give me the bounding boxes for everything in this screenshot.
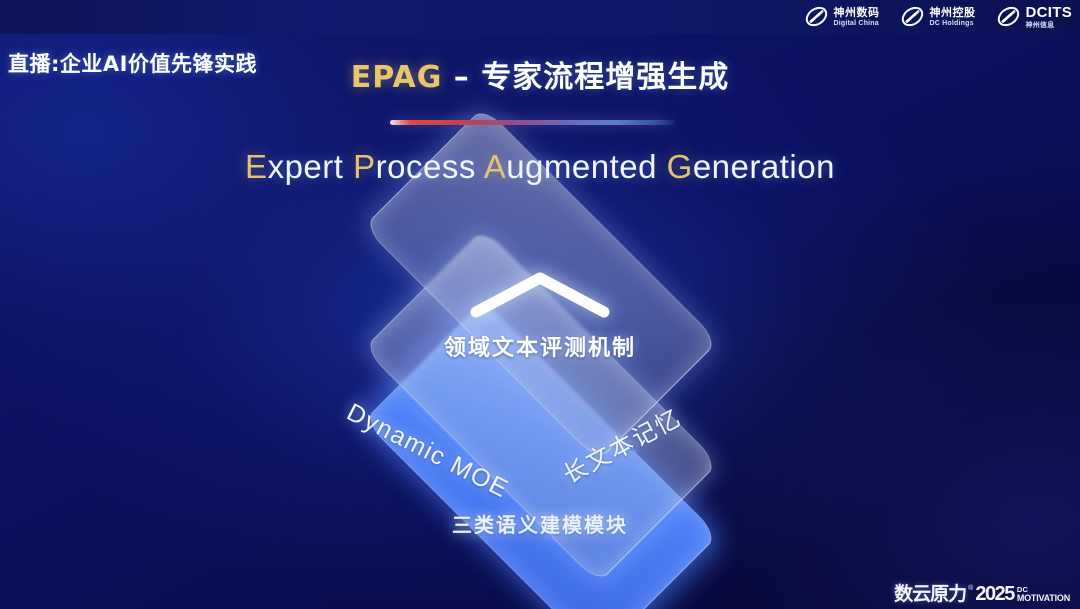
partner-name-cn: DCITS [1026, 5, 1073, 20]
partner-logo-group: 神州数码 Digital China 神州控股 DC Holdings DCIT… [804, 4, 1073, 29]
footer-registered-mark-icon: ® [968, 583, 973, 595]
partner-name-en: DC Holdings [930, 20, 976, 27]
subtitle-english: Expert Process Augmented Generation [0, 148, 1080, 186]
subtitle-cap-p: P [353, 148, 376, 185]
partner-label: 神州控股 DC Holdings [930, 7, 976, 27]
footer-logo-year: 2025 [975, 583, 1014, 605]
subtitle-cap-g: G [667, 148, 693, 185]
subtitle-rest-expert: xpert [268, 148, 344, 185]
subtitle-rest-generation: eneration [693, 148, 835, 185]
title-acronym: EPAG [351, 60, 443, 95]
slide-canvas: 数云原力 ® 2025 DC MOTIVATION 直播:企业AI价值先锋实践 … [0, 0, 1080, 609]
partner-name-cn: 神州控股 [930, 7, 976, 18]
swirl-logo-icon [996, 4, 1021, 29]
partner-name-en: Digital China [834, 20, 880, 27]
footer-logo-dc: DC MOTIVATION [1017, 583, 1070, 603]
swirl-logo-icon [900, 4, 925, 29]
brand-logo-footer: 数云原力 ® 2025 DC MOTIVATION [894, 583, 1070, 605]
footer-logo-cn: 数云原力 [894, 583, 966, 605]
subtitle-cap-e: E [245, 148, 268, 185]
live-broadcast-label: 直播:企业AI价值先锋实践 [8, 48, 257, 78]
partner-name-cn: 神州数码 [834, 7, 880, 18]
footer-logo-dc-line2: MOTIVATION [1017, 594, 1070, 603]
partner-logo-digital-china: 神州数码 Digital China [804, 4, 880, 29]
subtitle-rest-process: rocess [376, 148, 476, 185]
partner-logo-dc-holdings: 神州控股 DC Holdings [900, 4, 976, 29]
title-chinese: 专家流程增强生成 [481, 60, 729, 95]
title-separator: – [442, 60, 481, 95]
partner-name-en: 神州信息 [1026, 22, 1073, 29]
gradient-divider [390, 120, 675, 125]
partner-label: DCITS 神州信息 [1026, 5, 1073, 29]
swirl-logo-icon [804, 4, 829, 29]
partner-label: 神州数码 Digital China [834, 7, 880, 27]
subtitle-rest-augmented: ugmented [506, 148, 657, 185]
subtitle-cap-a: A [484, 148, 507, 185]
partner-logo-dcits: DCITS 神州信息 [996, 4, 1073, 29]
